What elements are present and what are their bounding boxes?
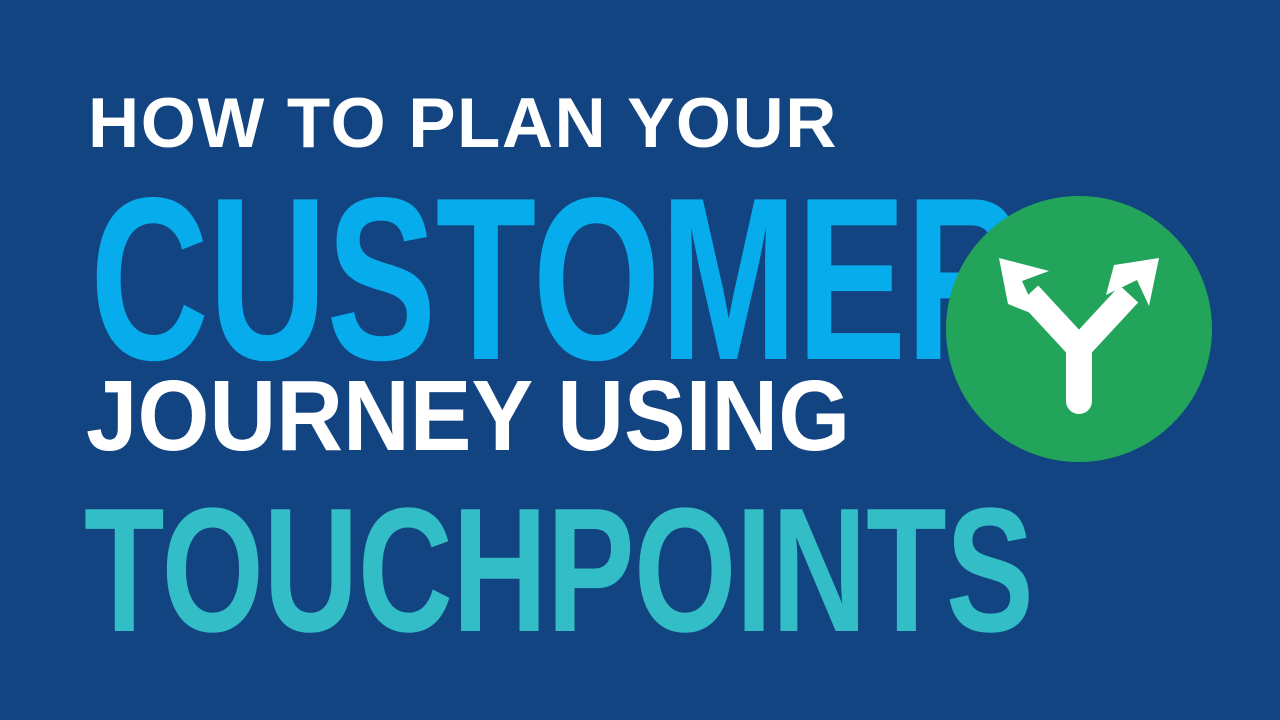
branching-path-fork-arrows-icon xyxy=(946,196,1212,462)
badge-circle xyxy=(946,196,1212,462)
headline-line-4-touchpoints: TOUCHPOINTS xyxy=(84,482,1033,610)
headline-line-2-customer: CUSTOMER xyxy=(90,164,1024,332)
headline-line-1: HOW TO PLAN YOUR xyxy=(88,88,838,141)
headline-line-3: JOURNEY USING xyxy=(86,366,850,440)
title-card: HOW TO PLAN YOUR CUSTOMER JOURNEY USING … xyxy=(0,0,1280,720)
